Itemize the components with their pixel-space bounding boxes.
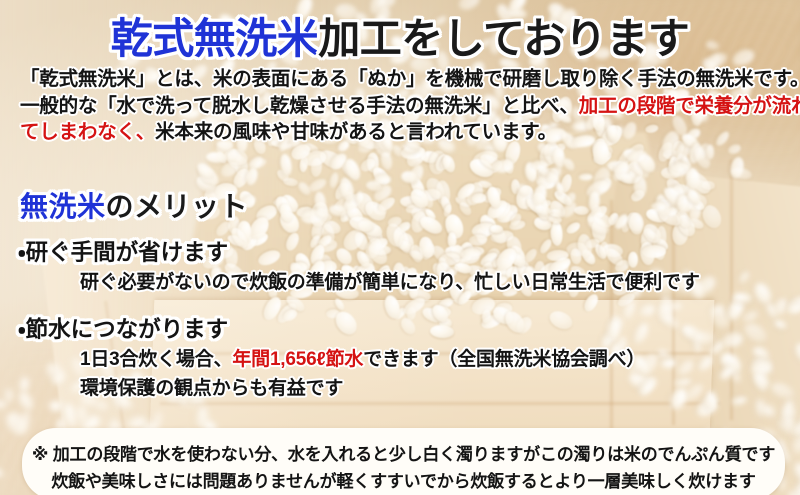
merit-detail-post: できます（全国無洗米協会調べ） — [363, 349, 645, 370]
description-line-2-highlight: 加工の段階で栄養分が流れ — [579, 95, 800, 117]
merit-item-detail: 研ぐ必要がないので炊飯の準備が簡単になり、忙しい日常生活で便利です — [18, 268, 798, 297]
merit-heading: 無洗米のメリット — [20, 190, 248, 224]
footnote-line-1: ※ 加工の段階で水を使わない分、水を入れると少し白く濁りますがこの濁りは米のでん… — [22, 440, 785, 465]
title-highlight: 乾式無洗米 — [111, 15, 319, 62]
description-line-3: てしまわなく、米本来の風味や甘味があると言われています。 — [20, 119, 790, 146]
merit-heading-highlight: 無洗米 — [20, 191, 106, 222]
merit-detail-pre: 1日3合炊く場合、 — [80, 349, 232, 370]
merit-list: ・研ぐ手間が省けます 研ぐ必要がないので炊飯の準備が簡単になり、忙しい日常生活で… — [18, 238, 798, 417]
footnote-panel: ※ 加工の段階で水を使わない分、水を入れると少し白く濁りますがこの濁りは米のでん… — [22, 428, 785, 495]
merit-heading-rest: のメリット — [106, 191, 249, 222]
description-line-3-highlight-a: てしまわなく、 — [20, 121, 155, 143]
description-block: 「乾式無洗米」とは、米の表面にある「ぬか」を機械で研磨し取り除く手法の無洗米です… — [20, 66, 790, 146]
description-line-1: 「乾式無洗米」とは、米の表面にある「ぬか」を機械で研磨し取り除く手法の無洗米です… — [20, 66, 790, 93]
description-line-3-text-b: と言われています。 — [387, 121, 557, 143]
merit-item: ・研ぐ手間が省けます 研ぐ必要がないので炊飯の準備が簡単になり、忙しい日常生活で… — [18, 238, 798, 297]
merit-item: ・節水につながります 1日3合炊く場合、年間1,656ℓ節水できます（全国無洗米… — [18, 315, 798, 403]
title-rest: 加工をしております — [318, 15, 689, 62]
merit-item-title: ・節水につながります — [18, 315, 798, 345]
page-title: 乾式無洗米加工をしております — [0, 14, 800, 64]
footnote-line-2: 炊飯や美味しさには問題ありませんが軽くすすいでから炊飯するとより一層美味しく炊け… — [22, 467, 785, 492]
description-line-2: 一般的な「水で洗って脱水し乾燥させる手法の無洗米」と比べ、加工の段階で栄養分が流… — [20, 93, 790, 120]
description-line-1-text: 「乾式無洗米」とは、米の表面にある「ぬか」を機械で研磨し取り除く手法の無洗米です… — [20, 68, 800, 90]
description-line-2-text: 一般的な「水で洗って脱水し乾燥させる手法の無洗米」と比べ、 — [20, 95, 579, 117]
poster: 乾式無洗米加工をしております 「乾式無洗米」とは、米の表面にある「ぬか」を機械で… — [0, 0, 800, 495]
merit-item-detail-secondary: 環境保護の観点からも有益です — [18, 374, 798, 403]
merit-item-title: ・研ぐ手間が省けます — [18, 238, 798, 268]
merit-detail-highlight: 年間1,656ℓ節水 — [232, 349, 363, 370]
description-line-3-text-a: 米本来の風味や甘味がある — [155, 121, 387, 143]
merit-item-detail: 1日3合炊く場合、年間1,656ℓ節水できます（全国無洗米協会調べ） — [18, 345, 798, 374]
